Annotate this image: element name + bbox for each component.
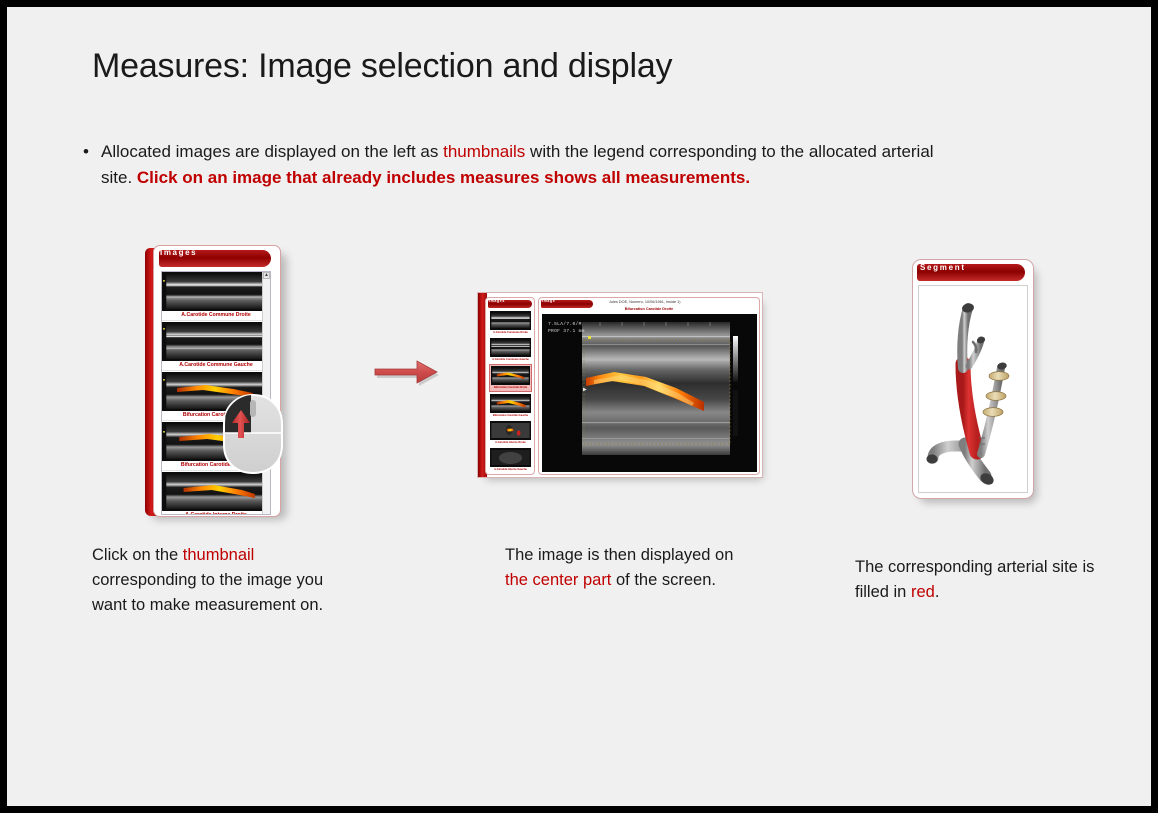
- caption-middle-part1: The image is then displayed on: [505, 546, 733, 564]
- caption-right: The corresponding arterial site is fille…: [855, 555, 1100, 605]
- ultrasound-focus-marker-icon: ▶: [583, 386, 587, 393]
- ultrasound-thumbnail-image[interactable]: [490, 448, 531, 467]
- caption-left-part1: Click on the: [92, 546, 183, 564]
- caption-right-part2: .: [935, 583, 940, 601]
- page-title: Measures: Image selection and display: [92, 47, 1042, 86]
- patient-info-line: Jules DOE, Numero, 10/06/1961, Inside 1): [609, 300, 681, 304]
- image-viewer-panel: Image Jules DOE, Numero, 10/06/1961, Ins…: [538, 297, 760, 475]
- list-item[interactable]: A.Carotide Interne Gauche: [489, 447, 532, 473]
- ultrasound-doppler-thumbnail-image[interactable]: [162, 472, 270, 511]
- thumbnail-caption: A.Carotide Commune Gauche: [490, 357, 531, 362]
- caption-middle: The image is then displayed on the cente…: [505, 543, 750, 593]
- ultrasound-thumbnail-image[interactable]: [490, 338, 531, 357]
- list-item[interactable]: A.Carotide Interne Droite: [489, 420, 532, 446]
- bullet-highlight-click: Click on an image that already includes …: [137, 168, 750, 187]
- ultrasound-doppler-thumbnail-image[interactable]: [490, 394, 531, 413]
- ultrasound-thumbnail-image[interactable]: [162, 322, 270, 361]
- bullet-text: Allocated images are displayed on the le…: [101, 139, 959, 190]
- thumbnail-panel-figure: Images: [145, 245, 290, 520]
- segment-panel-figure: Segment: [912, 259, 1042, 507]
- caption-right-part1: The corresponding arterial site is fille…: [855, 558, 1094, 601]
- application-window-figure: Images A.Carotide Commune Droite: [477, 292, 769, 484]
- list-item[interactable]: Bifurcation Carotide Gauche: [489, 393, 532, 419]
- bullet-list: • Allocated images are displayed on the …: [79, 139, 959, 190]
- thumbnail-caption: A.Carotide Commune Droite: [490, 330, 531, 335]
- image-viewer-title: Image: [542, 299, 555, 303]
- scroll-up-icon[interactable]: ▲: [263, 272, 270, 279]
- flow-arrow-icon: [369, 354, 443, 390]
- bullet-text-part1: Allocated images are displayed on the le…: [101, 142, 443, 161]
- ultrasound-thumbnail-image[interactable]: [162, 272, 270, 311]
- ultrasound-doppler-thumbnail-image[interactable]: [491, 366, 530, 385]
- segment-panel-body[interactable]: [918, 285, 1028, 493]
- slide-canvas: Measures: Image selection and display • …: [7, 7, 1151, 806]
- thumbnail-caption: A.Carotide Commune Droite: [162, 311, 270, 321]
- ultrasound-depth-label: PROF 37.1 mm: [548, 329, 585, 334]
- ultrasound-probe-label: 7.5LA/7.0/M: [548, 322, 582, 327]
- mouse-click-icon: [220, 393, 286, 475]
- list-item: • Allocated images are displayed on the …: [79, 139, 959, 190]
- list-item[interactable]: A.Carotide Interne Droite: [162, 472, 270, 515]
- caption-left: Click on the thumbnail corresponding to …: [92, 543, 342, 618]
- arterial-tree-diagram[interactable]: [919, 286, 1027, 492]
- displayed-image-title: Bifurcation Carotide Droite: [539, 307, 759, 311]
- bullet-marker: •: [79, 139, 101, 165]
- list-item[interactable]: A.Carotide Commune Gauche: [162, 322, 270, 371]
- thumbnail-caption: A.Carotide Interne Droite: [162, 511, 270, 515]
- thumbnail-caption: A.Carotide Interne Gauche: [490, 467, 531, 472]
- thumbnail-caption: Bifurcation Carotide Droite: [491, 385, 530, 390]
- thumbnail-caption: A.Carotide Commune Gauche: [162, 361, 270, 371]
- sidebar-thumbnail-list[interactable]: A.Carotide Commune Droite A.Carotide Com…: [489, 310, 532, 473]
- list-item[interactable]: A.Carotide Commune Droite: [162, 272, 270, 321]
- caption-left-part2: corresponding to the image you want to m…: [92, 571, 323, 614]
- caption-middle-highlight: the center part: [505, 571, 611, 589]
- caption-right-highlight: red: [911, 583, 935, 601]
- caption-left-highlight: thumbnail: [183, 546, 255, 564]
- thumbnail-caption: A.Carotide Interne Droite: [490, 440, 531, 445]
- segment-panel: Segment: [912, 259, 1034, 499]
- images-panel: Images: [153, 245, 281, 517]
- ultrasound-viewport[interactable]: 7.5LA/7.0/M PROF 37.1 mm ▶: [542, 314, 757, 472]
- bullet-highlight-thumbnails: thumbnails: [443, 142, 525, 161]
- caption-middle-part2: of the screen.: [611, 571, 716, 589]
- list-item[interactable]: A.Carotide Commune Droite: [489, 310, 532, 336]
- ultrasound-image[interactable]: [542, 314, 757, 472]
- application-window: Images A.Carotide Commune Droite: [477, 292, 763, 478]
- images-panel-title: Images: [160, 248, 197, 257]
- list-item-selected[interactable]: Bifurcation Carotide Droite: [489, 364, 532, 392]
- list-item[interactable]: A.Carotide Commune Gauche: [489, 337, 532, 363]
- slide-frame: Measures: Image selection and display • …: [0, 0, 1158, 813]
- ultrasound-doppler-thumbnail-image[interactable]: [490, 421, 531, 440]
- images-sidebar-title: Images: [489, 299, 505, 303]
- segment-panel-title: Segment: [920, 263, 966, 272]
- thumbnail-caption: Bifurcation Carotide Gauche: [490, 413, 531, 418]
- images-sidebar: Images A.Carotide Commune Droite: [485, 297, 535, 475]
- ultrasound-thumbnail-image[interactable]: [490, 311, 531, 330]
